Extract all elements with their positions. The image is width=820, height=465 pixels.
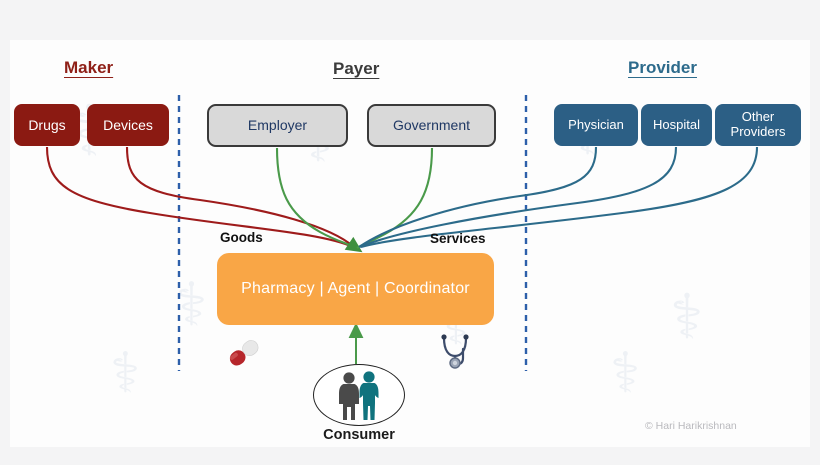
copyright-credit: © Hari Harikrishnan [645,420,737,432]
watermark-decoration: ⚕ [175,270,207,340]
stethoscope-icon [436,333,474,375]
flow-label-goods: Goods [220,230,263,245]
diagram-canvas: ⚕ ⚕ ⚕ ⚕ ⚕ ⚕ ⚕ ⚕ M [0,0,820,465]
flow-label-services: Services [430,231,486,246]
node-hospital[interactable]: Hospital [641,104,712,146]
node-employer[interactable]: Employer [207,104,348,147]
column-heading-maker: Maker [64,58,113,78]
node-physician[interactable]: Physician [554,104,638,146]
consumer-label: Consumer [313,427,405,443]
hub-node-pharmacy-agent-coordinator[interactable]: Pharmacy | Agent | Coordinator [217,253,494,325]
watermark-decoration: ⚕ [610,340,640,406]
pill-capsule-icon [224,334,264,372]
column-heading-payer: Payer [333,59,379,79]
column-heading-provider: Provider [628,58,697,78]
watermark-decoration: ⚕ [670,280,704,353]
two-people-icon [313,364,405,426]
node-government[interactable]: Government [367,104,496,147]
diagram-panel: ⚕ ⚕ ⚕ ⚕ ⚕ ⚕ ⚕ ⚕ [10,40,810,447]
watermark-decoration: ⚕ [110,340,140,406]
node-other-providers[interactable]: Other Providers [715,104,801,146]
node-drugs[interactable]: Drugs [14,104,80,146]
node-devices[interactable]: Devices [87,104,169,146]
